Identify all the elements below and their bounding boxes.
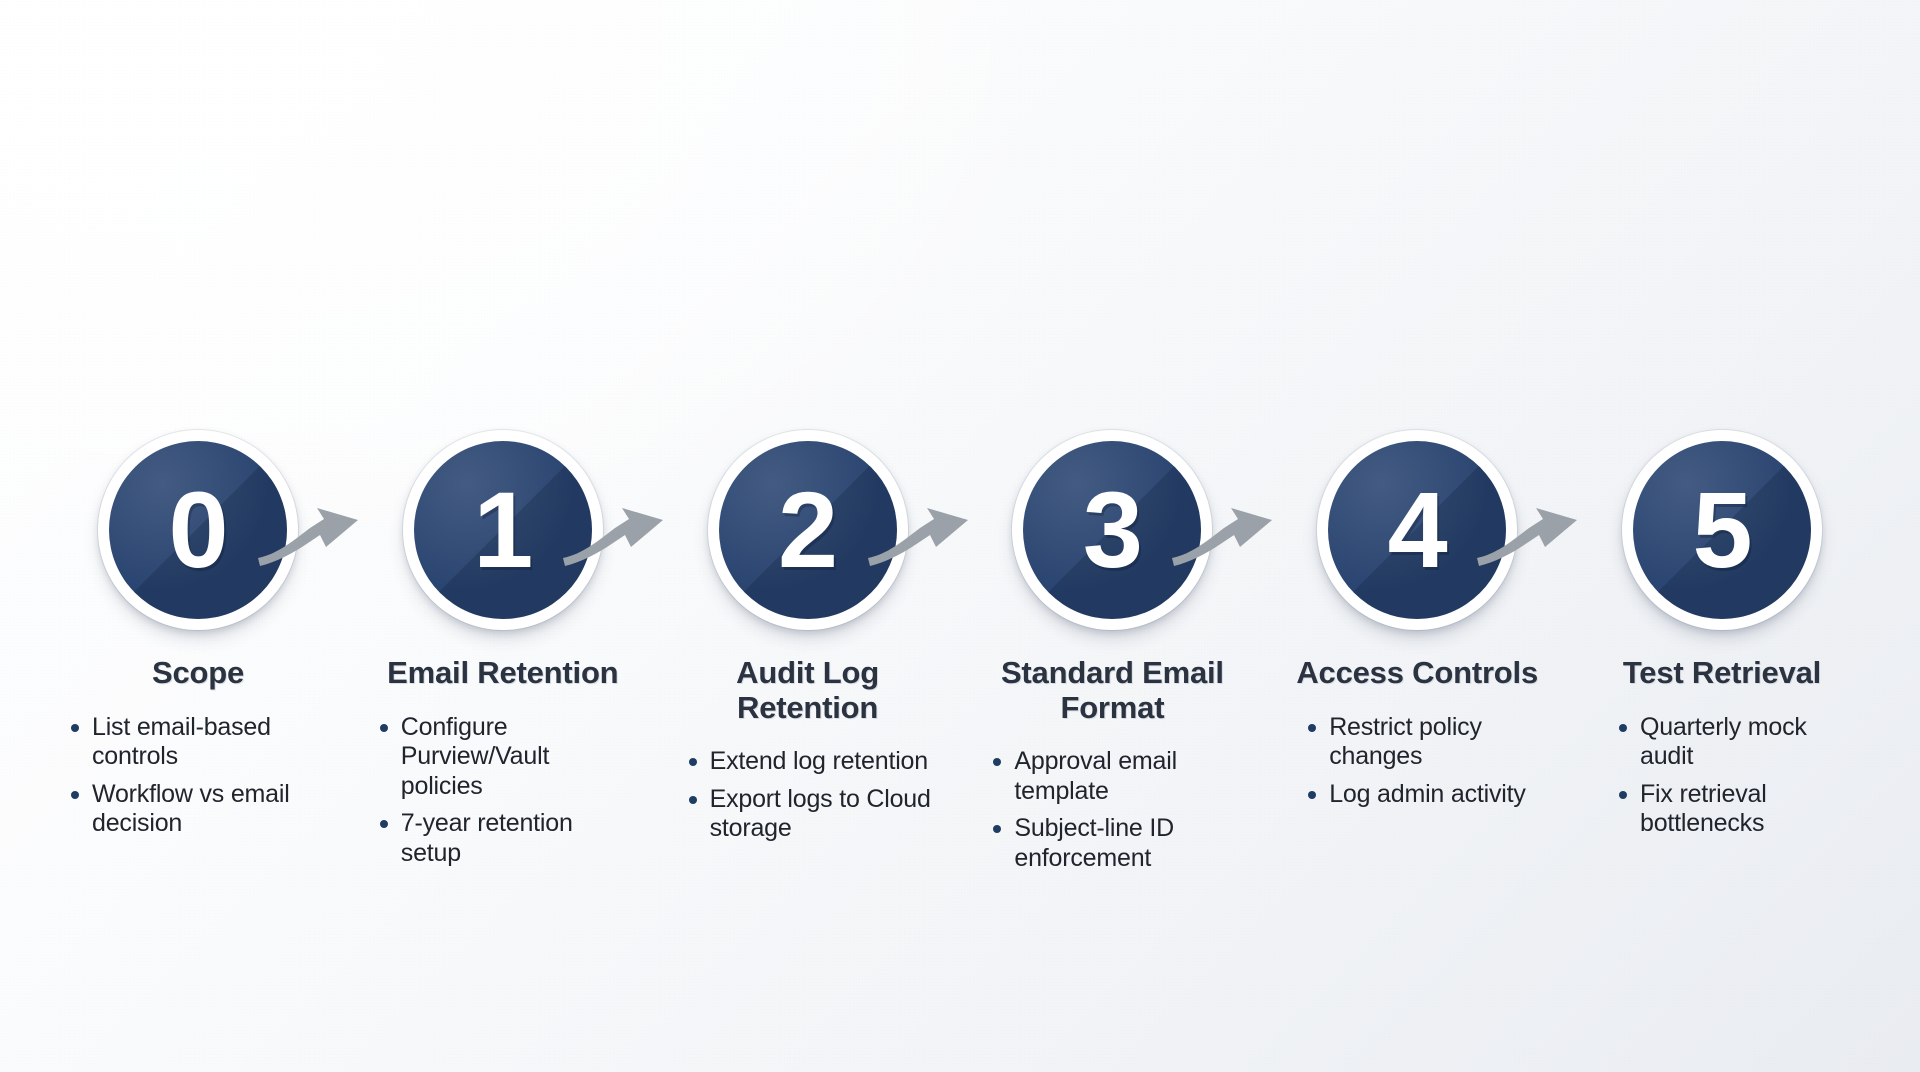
step-bullet-list: Extend log retentionExport logs to Cloud… [684, 747, 934, 852]
step-bullet-list: Approval email templateSubject-line ID e… [988, 747, 1238, 881]
step-bullet-item: Log admin activity [1303, 780, 1549, 810]
badge-circle: 5 [1633, 441, 1811, 619]
process-step-3[interactable]: 3Standard Email FormatApproval email tem… [974, 430, 1250, 881]
step-bullet-list: Restrict policy changesLog admin activit… [1303, 713, 1549, 818]
process-flow-row: 0ScopeList email-based controlsWorkflow … [60, 430, 1860, 881]
process-step-1[interactable]: 1Email RetentionConfigure Purview/Vault … [365, 430, 641, 876]
step-badge-4[interactable]: 4 [1317, 430, 1517, 630]
step-badge-5[interactable]: 5 [1622, 430, 1822, 630]
step-number: 0 [168, 476, 227, 584]
infographic-canvas: 0ScopeList email-based controlsWorkflow … [0, 0, 1920, 1072]
step-title: Scope [65, 656, 331, 691]
step-bullet-item: Quarterly mock audit [1614, 713, 1854, 772]
step-bullet-item: Fix retrieval bottlenecks [1614, 780, 1854, 839]
flow-arrow-icon [254, 492, 374, 572]
step-badge-1[interactable]: 1 [403, 430, 603, 630]
step-bullet-list: Configure Purview/Vault policies7-year r… [375, 713, 627, 877]
step-bullet-item: Subject-line ID enforcement [988, 814, 1238, 873]
step-number: 1 [473, 476, 532, 584]
process-step-4[interactable]: 4Access ControlsRestrict policy changesL… [1279, 430, 1555, 817]
step-badge-0[interactable]: 0 [98, 430, 298, 630]
step-title: Test Retrieval [1589, 656, 1855, 691]
flow-arrow-icon [864, 492, 984, 572]
step-badge-2[interactable]: 2 [708, 430, 908, 630]
process-step-0[interactable]: 0ScopeList email-based controlsWorkflow … [60, 430, 336, 847]
flow-arrow-icon [559, 492, 679, 572]
step-title: Standard Email Format [979, 656, 1245, 725]
step-bullet-list: Quarterly mock auditFix retrieval bottle… [1614, 713, 1854, 847]
flow-arrow-icon [1473, 492, 1593, 572]
process-step-2[interactable]: 2Audit Log RetentionExtend log retention… [670, 430, 946, 852]
step-bullet-item: 7-year retention setup [375, 809, 627, 868]
step-bullet-item: Approval email template [988, 747, 1238, 806]
step-number: 5 [1692, 476, 1751, 584]
step-title: Audit Log Retention [675, 656, 941, 725]
flow-arrow-icon [1168, 492, 1288, 572]
step-number: 2 [778, 476, 837, 584]
step-number: 4 [1388, 476, 1447, 584]
process-step-5[interactable]: 5Test RetrievalQuarterly mock auditFix r… [1584, 430, 1860, 847]
step-bullet-item: Configure Purview/Vault policies [375, 713, 627, 802]
step-badge-3[interactable]: 3 [1012, 430, 1212, 630]
step-number: 3 [1083, 476, 1142, 584]
step-bullet-item: List email-based controls [66, 713, 324, 772]
step-title: Email Retention [370, 656, 636, 691]
step-title: Access Controls [1284, 656, 1550, 691]
step-bullet-item: Extend log retention [684, 747, 934, 777]
step-bullet-list: List email-based controlsWorkflow vs ema… [66, 713, 324, 847]
step-bullet-item: Export logs to Cloud storage [684, 785, 934, 844]
step-bullet-item: Workflow vs email decision [66, 780, 324, 839]
step-bullet-item: Restrict policy changes [1303, 713, 1549, 772]
